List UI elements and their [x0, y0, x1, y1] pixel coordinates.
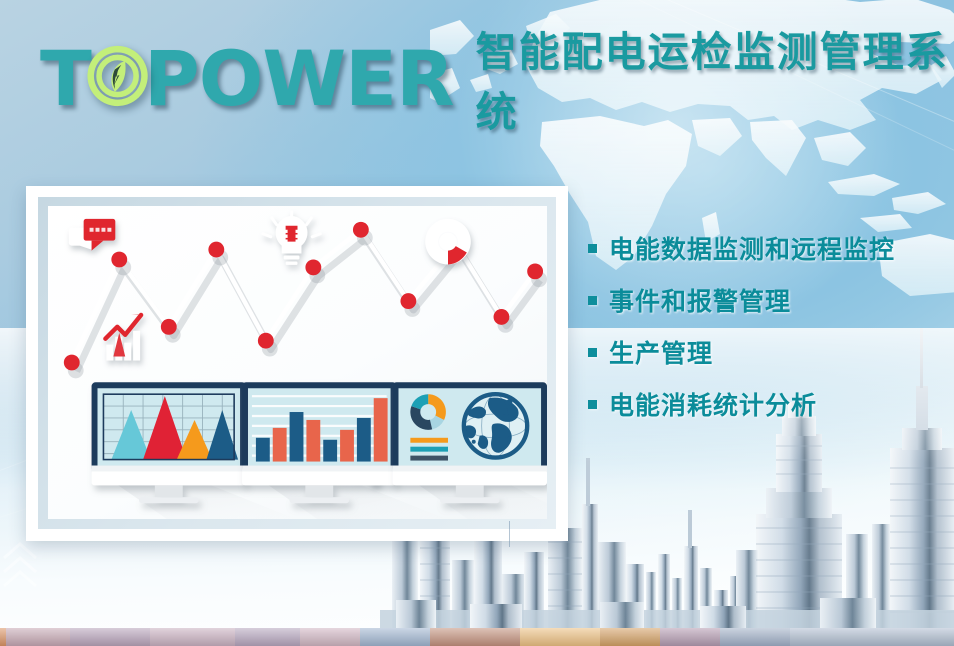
list-item: 电能数据监测和远程监控 [588, 230, 938, 266]
panel-frame [38, 197, 556, 529]
page-title: 智能配电运检监测管理系统 [476, 18, 954, 138]
bottom-photo-strip [0, 628, 954, 646]
feature-list: 电能数据监测和远程监控 事件和报警管理 生产管理 电能消耗统计分析 [588, 230, 938, 438]
bullet-square-icon [588, 348, 597, 357]
bullet-square-icon [588, 400, 597, 409]
chevron-watermark-icon [2, 540, 42, 600]
promo-banner: T POWER 智能配电运检监测管理系统 电能数据监测和远程监控 事件和报警管理 [0, 0, 954, 646]
leaf-in-circle-icon [87, 43, 148, 109]
bullet-square-icon [588, 244, 597, 253]
bullet-square-icon [588, 296, 597, 305]
panel-corner-tick [509, 521, 510, 547]
list-item: 事件和报警管理 [588, 282, 938, 318]
logo-text-suffix: POWER [144, 41, 454, 117]
list-item: 生产管理 [588, 334, 938, 370]
feature-label: 电能数据监测和远程监控 [609, 230, 895, 266]
list-item: 电能消耗统计分析 [588, 386, 938, 422]
feature-label: 生产管理 [609, 334, 713, 370]
feature-label: 电能消耗统计分析 [609, 386, 817, 422]
panel-canvas [48, 206, 547, 519]
illustration-panel [26, 186, 568, 541]
logo-text-prefix: T [40, 41, 91, 117]
feature-label: 事件和报警管理 [609, 282, 791, 318]
brand-logo: T POWER 智能配电运检监测管理系统 [40, 42, 954, 116]
